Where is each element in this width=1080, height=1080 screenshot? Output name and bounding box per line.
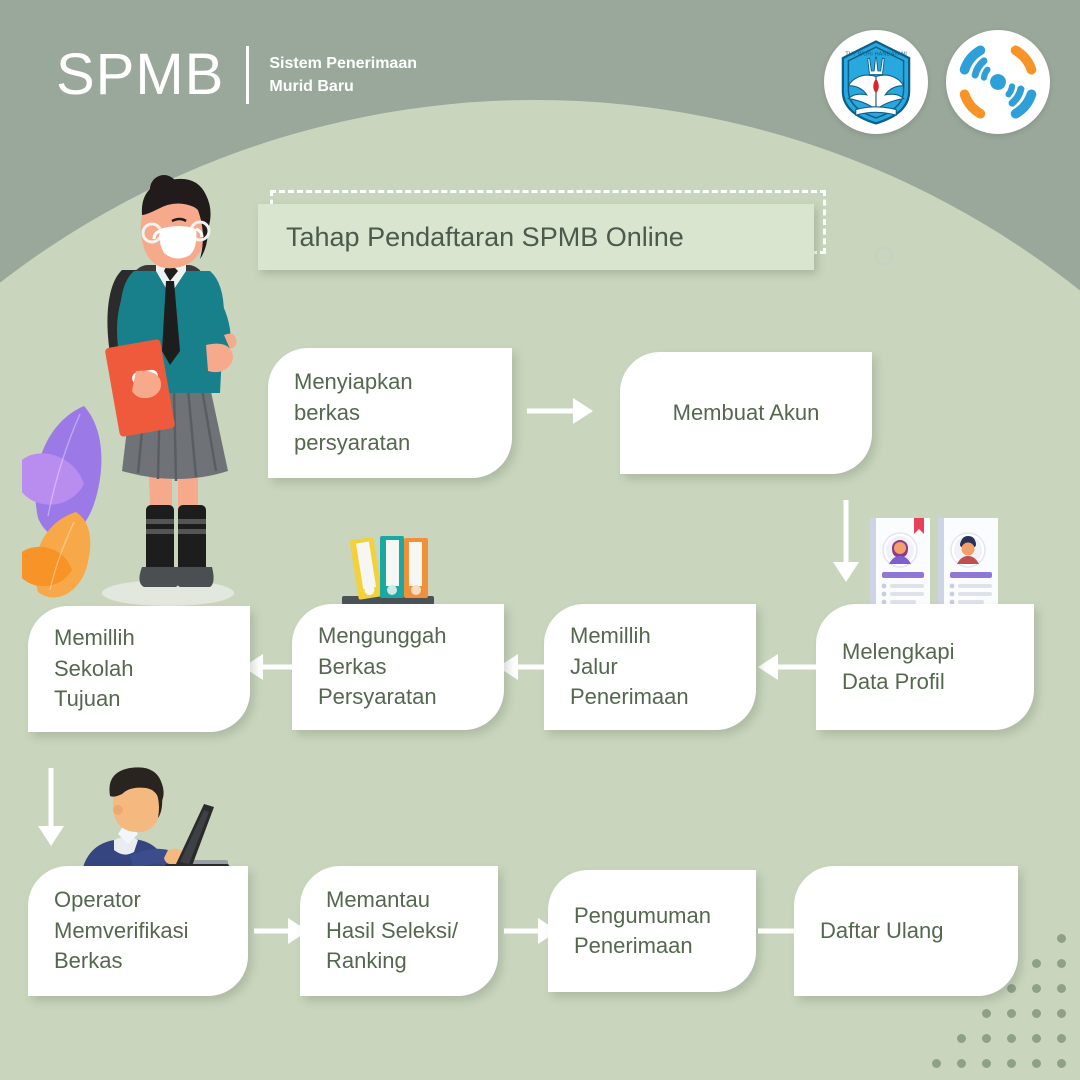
logo-caption: TUT WURI HANDAYANI: [845, 51, 907, 57]
arrow-row2-3: [758, 654, 820, 680]
infographic-canvas: SPMB Sistem Penerimaan Murid Baru: [0, 0, 1080, 1080]
dot: [1007, 1009, 1016, 1018]
arrow-row2-to-row3: [38, 768, 64, 846]
ring-decoration: [874, 246, 894, 266]
flow-node-memantau-hasil-seleksi[interactable]: Memantau Hasil Seleksi/ Ranking: [300, 866, 498, 996]
flow-node-label: Operator Memverifikasi Berkas: [28, 885, 214, 976]
dot: [1057, 984, 1066, 993]
dot: [1032, 1059, 1041, 1068]
dot: [957, 1034, 966, 1043]
title-panel: Tahap Pendaftaran SPMB Online: [258, 204, 814, 270]
dot: [1057, 934, 1066, 943]
arrow-row1-1: [527, 398, 593, 424]
brand-subtitle: Sistem Penerimaan Murid Baru: [269, 52, 417, 98]
title-text: Tahap Pendaftaran SPMB Online: [258, 222, 684, 253]
tut-wuri-handayani-logo: TUT WURI HANDAYANI: [824, 30, 928, 134]
brand-divider: [246, 46, 249, 104]
flow-node-label: Melengkapi Data Profil: [816, 637, 981, 698]
flow-node-daftar-ulang[interactable]: Daftar Ulang: [794, 866, 1018, 996]
arrow-row1-to-row2: [833, 500, 859, 582]
flow-node-label: Mengunggah Berkas Persyaratan: [292, 621, 472, 712]
brand-subtitle-line1: Sistem Penerimaan: [269, 52, 417, 75]
flow-node-label: Pengumuman Penerimaan: [548, 901, 737, 962]
brand-lockup: SPMB Sistem Penerimaan Murid Baru: [56, 46, 417, 104]
flow-node-operator-memverifikasi-berkas[interactable]: Operator Memverifikasi Berkas: [28, 866, 248, 996]
logo-group: TUT WURI HANDAYANI: [824, 30, 1050, 134]
arrow-row2-1: [243, 654, 297, 680]
dot: [982, 1059, 991, 1068]
flow-node-membuat-akun[interactable]: Membuat Akun: [620, 352, 872, 474]
flow-node-mengunggah-berkas[interactable]: Mengunggah Berkas Persyaratan: [292, 604, 504, 730]
dot: [1007, 1059, 1016, 1068]
dot: [982, 1009, 991, 1018]
dot: [932, 1059, 941, 1068]
flow-node-label: Menyiapkan berkas persyaratan: [268, 367, 439, 458]
spmb-wave-logo: [946, 30, 1050, 134]
flow-node-menyiapkan-berkas[interactable]: Menyiapkan berkas persyaratan: [268, 348, 512, 478]
section-title: Tahap Pendaftaran SPMB Online: [258, 190, 826, 270]
dot: [1007, 984, 1016, 993]
dot: [1032, 984, 1041, 993]
profile-cards-illustration: [868, 512, 1004, 608]
dot: [1057, 1034, 1066, 1043]
dot: [1007, 1034, 1016, 1043]
header: SPMB Sistem Penerimaan Murid Baru: [0, 0, 1080, 160]
arrow-row2-2: [498, 654, 548, 680]
dot: [1057, 1009, 1066, 1018]
dot: [1032, 959, 1041, 968]
student-girl-illustration: [60, 175, 275, 615]
dot: [1057, 959, 1066, 968]
brand-title: SPMB: [56, 46, 224, 104]
dot: [1032, 1009, 1041, 1018]
flow-node-melengkapi-data-profil[interactable]: Melengkapi Data Profil: [816, 604, 1034, 730]
flow-node-pengumuman-penerimaan[interactable]: Pengumuman Penerimaan: [548, 870, 756, 992]
dot: [1032, 1034, 1041, 1043]
binders-illustration: [336, 528, 440, 612]
flow-node-label: Memillih Sekolah Tujuan: [28, 623, 161, 714]
flow-node-memilih-jalur-penerimaan[interactable]: Memillih Jalur Penerimaan: [544, 604, 756, 730]
flow-node-label: Memantau Hasil Seleksi/ Ranking: [300, 885, 484, 976]
flow-node-label: Memillih Jalur Penerimaan: [544, 621, 715, 712]
dot: [1057, 1059, 1066, 1068]
dot: [957, 1059, 966, 1068]
flow-node-label: Daftar Ulang: [794, 916, 970, 946]
brand-subtitle-line2: Murid Baru: [269, 75, 417, 98]
flow-node-label: Membuat Akun: [620, 398, 872, 428]
flow-node-memilih-sekolah-tujuan[interactable]: Memillih Sekolah Tujuan: [28, 606, 250, 732]
dot: [982, 1034, 991, 1043]
